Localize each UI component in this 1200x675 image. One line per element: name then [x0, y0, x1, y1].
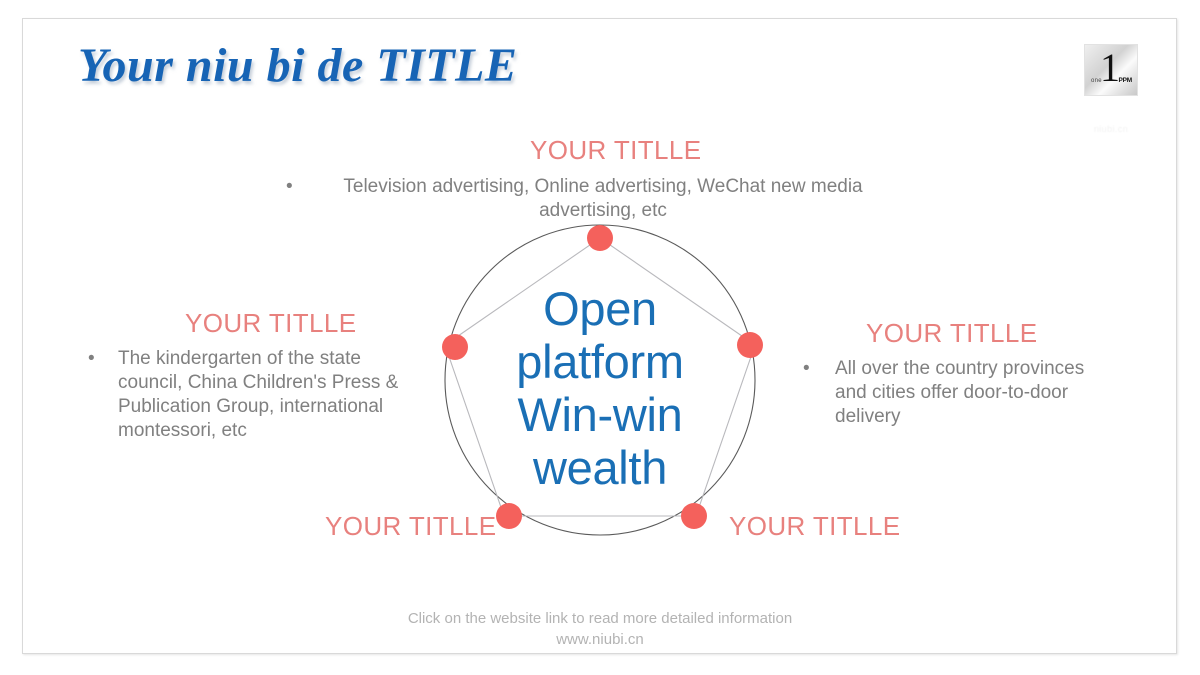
center-line-3: Win-win: [480, 388, 720, 441]
logo-digit-icon: 1: [1100, 48, 1120, 88]
bullet-icon-top: •: [286, 175, 293, 199]
center-line-4: wealth: [480, 441, 720, 494]
center-line-2: platform: [480, 335, 720, 388]
company-logo: one 1 PPM: [1084, 44, 1138, 96]
bullet-icon-right: •: [803, 357, 810, 381]
section-body-top: • Television advertising, Online adverti…: [278, 175, 928, 223]
footer-note: Click on the website link to read more d…: [300, 608, 900, 650]
section-title-bottom-left: YOUR TITLLE: [325, 511, 497, 542]
logo-watermark: niubi.cn: [1082, 124, 1140, 134]
footer-line-1: Click on the website link to read more d…: [300, 608, 900, 629]
center-line-1: Open: [480, 282, 720, 335]
footer-website-link[interactable]: www.niubi.cn: [300, 629, 900, 650]
section-body-text-left: The kindergarten of the state council, C…: [118, 347, 418, 443]
diagram-center-label: Open platform Win-win wealth: [480, 282, 720, 494]
slide-canvas: Your niu bi de TITLE one 1 PPM niubi.cn …: [0, 0, 1200, 675]
section-body-right: • All over the country provinces and cit…: [803, 357, 1093, 429]
bullet-icon-left: •: [88, 347, 95, 371]
section-title-top: YOUR TITLLE: [530, 135, 702, 166]
section-body-left: • The kindergarten of the state council,…: [88, 347, 418, 443]
logo-mark-label: PPM: [1119, 77, 1133, 84]
section-body-text-top: Television advertising, Online advertisi…: [278, 175, 928, 223]
section-title-bottom-right: YOUR TITLLE: [729, 511, 901, 542]
section-title-right: YOUR TITLLE: [866, 318, 1038, 349]
section-title-left: YOUR TITLLE: [185, 308, 357, 339]
page-title: Your niu bi de TITLE: [78, 38, 517, 93]
section-body-text-right: All over the country provinces and citie…: [835, 357, 1093, 429]
